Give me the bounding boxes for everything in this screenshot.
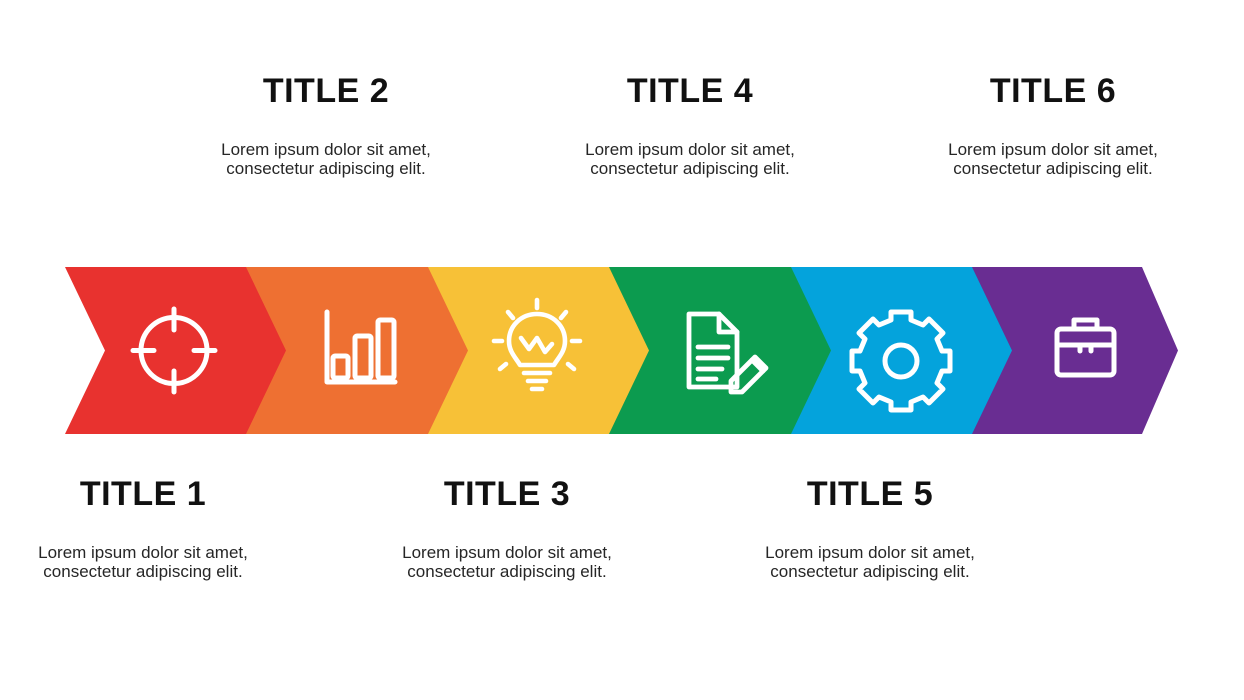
gear-icon	[852, 312, 950, 410]
label-block-title-4: TITLE 4 Lorem ipsum dolor sit amet, cons…	[575, 74, 805, 178]
title-3-heading: TITLE 3	[392, 477, 622, 513]
label-block-title-5: TITLE 5 Lorem ipsum dolor sit amet, cons…	[755, 477, 985, 581]
title-2-heading: TITLE 2	[211, 74, 441, 110]
step-5-chevron[interactable]	[791, 267, 1017, 434]
step-2-shape[interactable]	[246, 267, 472, 434]
title-6-heading: TITLE 6	[938, 74, 1168, 110]
briefcase-icon	[1057, 320, 1114, 375]
title-2-body: Lorem ipsum dolor sit amet, consectetur …	[211, 140, 441, 178]
target-icon	[133, 309, 215, 392]
title-5-body: Lorem ipsum dolor sit amet, consectetur …	[755, 543, 985, 581]
document-edit-icon	[689, 314, 766, 392]
step-6-shape[interactable]	[972, 267, 1178, 434]
title-4-body: Lorem ipsum dolor sit amet, consectetur …	[575, 140, 805, 178]
step-5-shape[interactable]	[791, 267, 1017, 434]
step-4-chevron[interactable]	[609, 267, 835, 434]
step-3-chevron[interactable]	[428, 267, 654, 434]
label-block-title-3: TITLE 3 Lorem ipsum dolor sit amet, cons…	[392, 477, 622, 581]
step-1-chevron[interactable]	[65, 267, 291, 434]
step-1-shape[interactable]	[65, 267, 291, 434]
lightbulb-icon	[494, 300, 580, 389]
title-6-body: Lorem ipsum dolor sit amet, consectetur …	[938, 140, 1168, 178]
step-3-shape[interactable]	[428, 267, 654, 434]
step-2-chevron[interactable]	[246, 267, 472, 434]
title-3-body: Lorem ipsum dolor sit amet, consectetur …	[392, 543, 622, 581]
label-block-title-2: TITLE 2 Lorem ipsum dolor sit amet, cons…	[211, 74, 441, 178]
title-4-heading: TITLE 4	[575, 74, 805, 110]
title-5-heading: TITLE 5	[755, 477, 985, 513]
bar-chart-icon	[327, 312, 395, 382]
step-4-shape[interactable]	[609, 267, 835, 434]
step-6-chevron[interactable]	[972, 267, 1178, 434]
label-block-title-6: TITLE 6 Lorem ipsum dolor sit amet, cons…	[938, 74, 1168, 178]
label-block-title-1: TITLE 1 Lorem ipsum dolor sit amet, cons…	[28, 477, 258, 581]
title-1-heading: TITLE 1	[28, 477, 258, 513]
infographic-canvas: TITLE 2 Lorem ipsum dolor sit amet, cons…	[0, 0, 1244, 700]
title-1-body: Lorem ipsum dolor sit amet, consectetur …	[28, 543, 258, 581]
